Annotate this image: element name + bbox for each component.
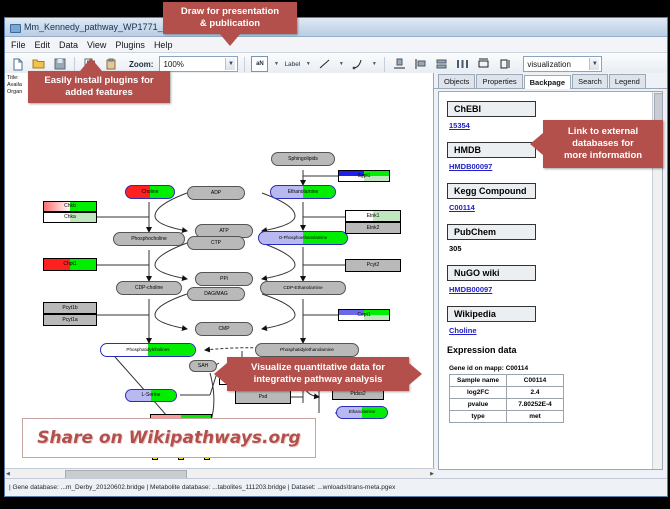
node-cdp-choline[interactable]: CDP-choline <box>116 281 182 295</box>
expr-val-type: met <box>507 411 564 423</box>
callout-visualize-arrow <box>214 363 227 385</box>
callout-plugins-arrow <box>80 58 102 71</box>
backpage-header-hmdb: HMDB <box>447 142 536 158</box>
node-ctp[interactable]: CTP <box>187 236 245 250</box>
node-label: Ethanolamine <box>349 410 376 414</box>
table-row: pvalue 7.80252E-4 <box>450 399 564 411</box>
zoom-value: 100% <box>163 60 183 69</box>
callout-link-line1: Link to external <box>568 126 638 138</box>
node-sah[interactable]: SAH <box>189 360 217 372</box>
scroll-right-icon[interactable]: ▶ <box>430 471 434 477</box>
node-chpt1[interactable]: Chpt1 <box>43 258 97 271</box>
chevron-down-icon[interactable]: ▼ <box>225 58 235 70</box>
node-sphingolipids[interactable]: Sphingolipids <box>271 152 335 166</box>
align-left-icon[interactable] <box>412 56 429 73</box>
align-bottom-icon[interactable] <box>391 56 408 73</box>
node-etnk1[interactable]: Etnk1 <box>345 210 401 222</box>
tab-search[interactable]: Search <box>572 74 608 88</box>
backpage-header-chebi: ChEBI <box>447 101 536 117</box>
node-label: CMP <box>218 327 229 332</box>
backpage-header-nugo: NuGO wiki <box>447 265 536 281</box>
backpage-header-kegg: Kegg Compound <box>447 183 536 199</box>
node-label: Cept1 <box>357 313 370 318</box>
node-label: CTP <box>211 241 221 246</box>
node-label: ADP <box>211 191 221 196</box>
node-label: PPi <box>220 277 228 282</box>
zoom-label: Zoom: <box>129 60 153 69</box>
node-label: Phosphatidylethanolamine <box>280 348 334 353</box>
callout-plugins-line2: added features <box>65 87 133 99</box>
backpage-link-nugo[interactable]: HMDB00097 <box>449 285 654 294</box>
gene-id-line: Gene id on mapp: C00114 <box>449 365 654 372</box>
chevron-down-icon-label[interactable]: ▼ <box>304 56 312 73</box>
callout-link-arrow <box>530 133 543 155</box>
backpage-header-pubchem: PubChem <box>447 224 536 240</box>
node-label: Pcyt2 <box>367 263 380 268</box>
menu-item-help[interactable]: Help <box>154 40 173 50</box>
pathway-canvas[interactable]: Title: Availa Organ <box>5 73 434 474</box>
status-text: | Gene database: ...m_Derby_20120602.bri… <box>9 484 395 491</box>
expression-data-title: Expression data <box>447 345 654 355</box>
node-label: Chka <box>64 215 76 220</box>
title-bar: Mm_Kennedy_pathway_WP1771_45176.gpml <box>5 18 667 37</box>
paste-icon[interactable] <box>102 56 119 73</box>
zoom-combo[interactable]: 100% ▼ <box>159 56 238 72</box>
node-cdp-ethanolamine[interactable]: CDP-Ethanolamine <box>260 281 346 295</box>
callout-draw-arrow <box>219 33 241 46</box>
toolbar-separator-2 <box>244 57 245 72</box>
node-label: CDP-Ethanolamine <box>283 286 322 291</box>
expression-table: Sample name C00114 log2FC 2.4 pvalue 7.8… <box>449 374 564 423</box>
callout-draw-line2: & publication <box>200 18 260 30</box>
new-file-icon[interactable] <box>9 56 26 73</box>
data-node-icon[interactable]: aN <box>251 56 268 72</box>
expr-key-log2fc: log2FC <box>450 387 507 399</box>
node-label: Chkb <box>64 204 76 209</box>
label-tool[interactable]: Label <box>284 61 300 68</box>
node-ethanolamine-top[interactable]: Ethanolamine <box>270 185 336 199</box>
table-row: Sample name C00114 <box>450 375 564 387</box>
node-label: Psd <box>259 395 268 400</box>
node-label: Ptdss2 <box>350 392 365 397</box>
node-pcyt1b[interactable]: Pcyt1b <box>43 302 97 314</box>
node-label: Sgpl1 <box>358 174 371 179</box>
node-choline-top[interactable]: Choline <box>125 185 175 199</box>
tab-legend[interactable]: Legend <box>609 74 646 88</box>
node-dagmag[interactable]: DAG/MAG <box>187 287 245 301</box>
callout-draw-line1: Draw for presentation <box>181 6 279 18</box>
node-label: Ethanolamine <box>288 190 319 195</box>
callout-plugins: Easily install plugins for added feature… <box>28 71 170 103</box>
chevron-down-icon-visualization[interactable]: ▼ <box>589 58 599 70</box>
expr-key-sample: Sample name <box>450 375 507 387</box>
callout-link-line3: more information <box>564 150 642 162</box>
node-label: ATP <box>219 229 228 234</box>
menu-item-data[interactable]: Data <box>59 40 78 50</box>
node-label: DAG/MAG <box>204 292 228 297</box>
node-label: Phosphatidylcholines <box>126 348 169 353</box>
callout-link-line2: databases for <box>572 138 634 150</box>
callout-visualize: Visualize quantitative data for integrat… <box>227 357 409 391</box>
tab-backpage[interactable]: Backpage <box>524 75 571 89</box>
node-o-phosphoethanolamine[interactable]: O-Phosphoethanolamine <box>258 231 348 245</box>
callout-plugins-line1: Easily install plugins for <box>44 75 153 87</box>
scroll-left-icon[interactable]: ◀ <box>6 471 10 477</box>
node-ppi[interactable]: PPi <box>195 272 253 286</box>
expr-val-pvalue: 7.80252E-4 <box>507 399 564 411</box>
node-chkb[interactable]: Chkb <box>43 201 97 212</box>
app-window-icon <box>9 22 20 33</box>
node-phosphatidylcholines[interactable]: Phosphatidylcholines <box>100 343 196 357</box>
backpage-link-wikipedia[interactable]: Choline <box>449 326 654 335</box>
node-label: Etnk2 <box>367 226 380 231</box>
menu-bar[interactable]: File Edit Data View Plugins Help <box>5 37 667 53</box>
node-etnk2[interactable]: Etnk2 <box>345 222 401 234</box>
node-ethanolamine-bottom[interactable]: Ethanolamine <box>336 406 388 419</box>
callout-draw: Draw for presentation & publication <box>163 2 297 34</box>
menu-item-file[interactable]: File <box>11 40 26 50</box>
callout-visualize-arrow-right <box>409 363 422 385</box>
backpage-link-kegg[interactable]: C00114 <box>449 203 654 212</box>
chevron-down-icon-datanode[interactable]: ▼ <box>272 56 280 73</box>
node-label: Pcyt1a <box>62 318 77 323</box>
chevron-down-icon-line[interactable]: ▼ <box>337 56 345 73</box>
backpage-value-pubchem: 305 <box>449 244 654 253</box>
open-folder-icon[interactable] <box>30 56 47 73</box>
visualization-value: visualization <box>527 60 571 69</box>
save-disk-icon[interactable] <box>51 56 68 73</box>
tab-objects[interactable]: Objects <box>438 74 475 88</box>
menu-item-plugins[interactable]: Plugins <box>115 40 145 50</box>
callout-visualize-line1: Visualize quantitative data for <box>251 362 385 374</box>
visualization-combo[interactable]: visualization ▼ <box>523 56 602 72</box>
node-l-serine-left[interactable]: L-Serine <box>125 389 177 402</box>
node-label: O-Phosphoethanolamine <box>279 236 328 240</box>
distribute-icon[interactable] <box>454 56 471 73</box>
menu-item-view[interactable]: View <box>87 40 106 50</box>
toolbar-separator-3 <box>384 57 385 72</box>
node-label: Chpt1 <box>63 262 76 267</box>
node-label: Phosphocholine <box>131 237 167 242</box>
node-label: Sphingolipids <box>288 157 318 162</box>
callout-share-box: Share on Wikipathways.org <box>22 418 316 458</box>
node-label: L-Serine <box>142 393 161 398</box>
stack-vertical-icon[interactable] <box>433 56 450 73</box>
node-label: Etnk1 <box>367 214 380 219</box>
node-phosphatidylethanolamine[interactable]: Phosphatidylethanolamine <box>255 343 359 357</box>
node-phosphocholine[interactable]: Phosphocholine <box>113 232 185 246</box>
screenshot-root: Mm_Kennedy_pathway_WP1771_45176.gpml Fil… <box>0 0 670 509</box>
table-row: log2FC 2.4 <box>450 387 564 399</box>
expr-val-log2fc: 2.4 <box>507 387 564 399</box>
node-label: SAH <box>198 364 208 369</box>
node-pcyt2[interactable]: Pcyt2 <box>345 259 401 272</box>
node-label: Pcyt1b <box>62 306 77 311</box>
same-width-icon[interactable] <box>475 56 492 73</box>
node-sgpl1[interactable]: Sgpl1 <box>338 170 390 182</box>
node-adp[interactable]: ADP <box>187 186 245 200</box>
callout-link: Link to external databases for more info… <box>543 120 663 168</box>
expr-key-pvalue: pvalue <box>450 399 507 411</box>
node-pcyt1a[interactable]: Pcyt1a <box>43 314 97 326</box>
tab-properties[interactable]: Properties <box>476 74 522 88</box>
same-height-icon[interactable] <box>496 56 513 73</box>
toolbar-separator <box>74 57 75 72</box>
menu-item-edit[interactable]: Edit <box>35 40 51 50</box>
side-tabs[interactable]: Objects Properties Backpage Search Legen… <box>434 73 667 89</box>
node-label: Choline <box>142 190 159 195</box>
table-row: type met <box>450 411 564 423</box>
node-label: CDP-choline <box>135 286 163 291</box>
chevron-down-icon-arc[interactable]: ▼ <box>370 56 378 73</box>
node-psd[interactable]: Psd <box>235 390 291 404</box>
node-cept1[interactable]: Cept1 <box>338 309 390 321</box>
arc-tool-icon[interactable] <box>349 56 366 73</box>
node-chka[interactable]: Chka <box>43 212 97 223</box>
status-bar: | Gene database: ...m_Derby_20120602.bri… <box>5 478 667 496</box>
callout-visualize-line2: integrative pathway analysis <box>254 374 383 386</box>
line-tool-icon[interactable] <box>316 56 333 73</box>
callout-share-text: Share on Wikipathways.org <box>37 428 300 448</box>
expr-val-sample: C00114 <box>507 375 564 387</box>
expr-key-type: type <box>450 411 507 423</box>
node-cmp[interactable]: CMP <box>195 322 253 336</box>
backpage-header-wikipedia: Wikipedia <box>447 306 536 322</box>
